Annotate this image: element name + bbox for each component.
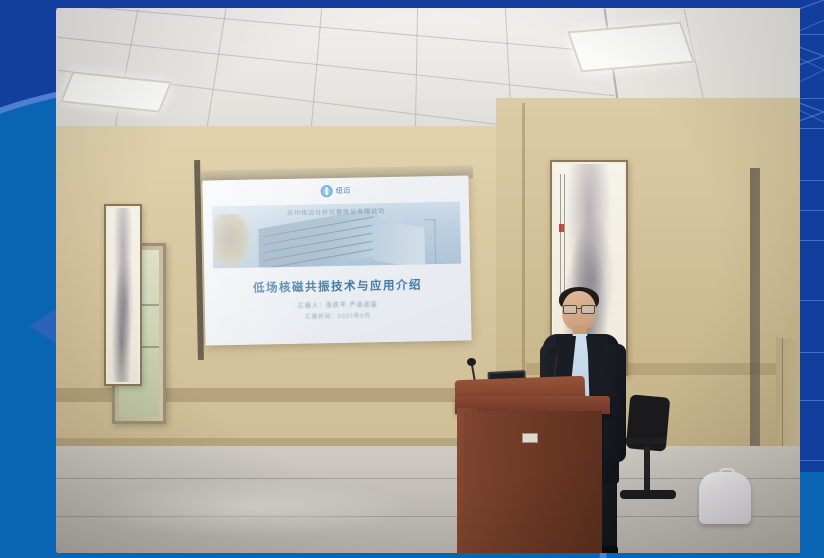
scroll-artwork <box>108 208 138 382</box>
office-chair-arm <box>622 438 666 444</box>
podium-label-plate <box>522 433 538 443</box>
wall-dark-column <box>750 168 760 468</box>
microphone-head-left <box>467 358 476 366</box>
plastic-bag <box>699 472 751 524</box>
eyeglasses-bridge <box>576 308 582 309</box>
screen-glare <box>202 175 471 345</box>
floor-reflection <box>86 478 416 538</box>
office-chair-stem <box>644 446 650 494</box>
scroll-calligraphy <box>560 174 561 294</box>
presentation-photo: 纽迈 苏州纽迈分析仪器股份有限公司 低场核磁 <box>56 8 800 553</box>
office-chair-base <box>620 490 676 499</box>
scroll-red-seal <box>559 224 564 232</box>
microphone-head <box>548 348 558 357</box>
eyeglasses-icon <box>563 305 595 312</box>
scroll-calligraphy <box>564 174 565 302</box>
slide-photo-frame: 纽迈 苏州纽迈分析仪器股份有限公司 低场核磁 <box>0 0 824 558</box>
chinese-landscape-scroll-left <box>104 204 142 386</box>
projector-screen: 纽迈 苏州纽迈分析仪器股份有限公司 低场核磁 <box>202 175 471 345</box>
